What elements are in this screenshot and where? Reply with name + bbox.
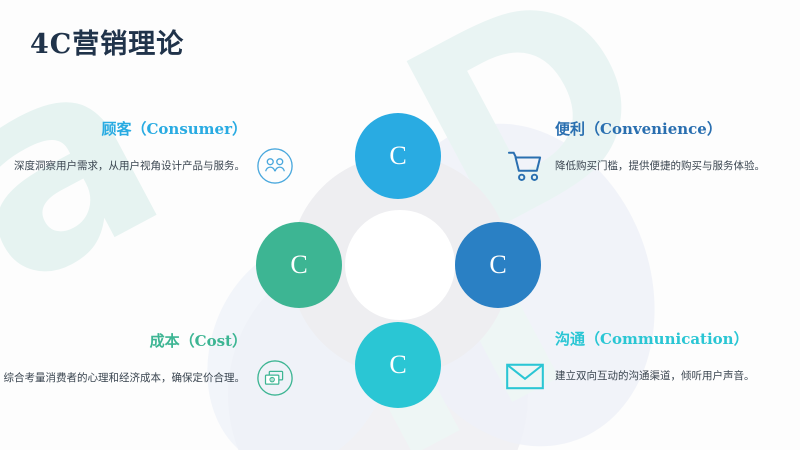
block-consumer[interactable]: 顾客（Consumer） 深度洞察用户需求，从用户视角设计产品与服务。	[0, 118, 295, 186]
block-consumer-heading: 顾客（Consumer）	[0, 118, 295, 139]
node-letter: C	[489, 250, 506, 280]
node-communication[interactable]: C	[355, 322, 441, 408]
block-cost-description: 综合考量消费者的心理和经济成本，确保定价合理。	[4, 369, 246, 387]
block-convenience-heading: 便利（Convenience）	[505, 118, 800, 139]
node-communication-right[interactable]: C	[455, 222, 541, 308]
block-communication-description: 建立双向互动的沟通渠道，倾听用户声音。	[555, 367, 755, 385]
node-letter: C	[389, 141, 406, 171]
hub-core	[345, 210, 455, 320]
block-convenience-description: 降低购买门槛，提供便捷的购买与服务体验。	[555, 157, 765, 175]
block-consumer-description: 深度洞察用户需求，从用户视角设计产品与服务。	[14, 157, 245, 175]
block-convenience[interactable]: 便利（Convenience） 降低购买门槛，提供便捷的购买与服务体验。	[505, 118, 800, 186]
node-consumer[interactable]: C	[355, 113, 441, 199]
money-icon: S	[255, 358, 295, 398]
svg-text:S: S	[271, 377, 274, 382]
slide-canvas: a D n 4C营销理论 C C C C 顾客（Consumer） 深度洞察用户…	[0, 0, 800, 450]
node-letter: C	[389, 350, 406, 380]
envelope-icon	[505, 356, 545, 396]
block-cost[interactable]: 成本（Cost） 综合考量消费者的心理和经济成本，确保定价合理。 S	[0, 330, 295, 398]
block-cost-heading: 成本（Cost）	[0, 330, 295, 351]
users-icon	[255, 146, 295, 186]
block-communication[interactable]: 沟通（Communication） 建立双向互动的沟通渠道，倾听用户声音。	[505, 328, 800, 396]
node-letter: C	[290, 250, 307, 280]
page-title: 4C营销理论	[30, 22, 184, 61]
block-communication-heading: 沟通（Communication）	[505, 328, 800, 349]
shopping-cart-icon	[505, 146, 545, 186]
node-cost[interactable]: C	[256, 222, 342, 308]
